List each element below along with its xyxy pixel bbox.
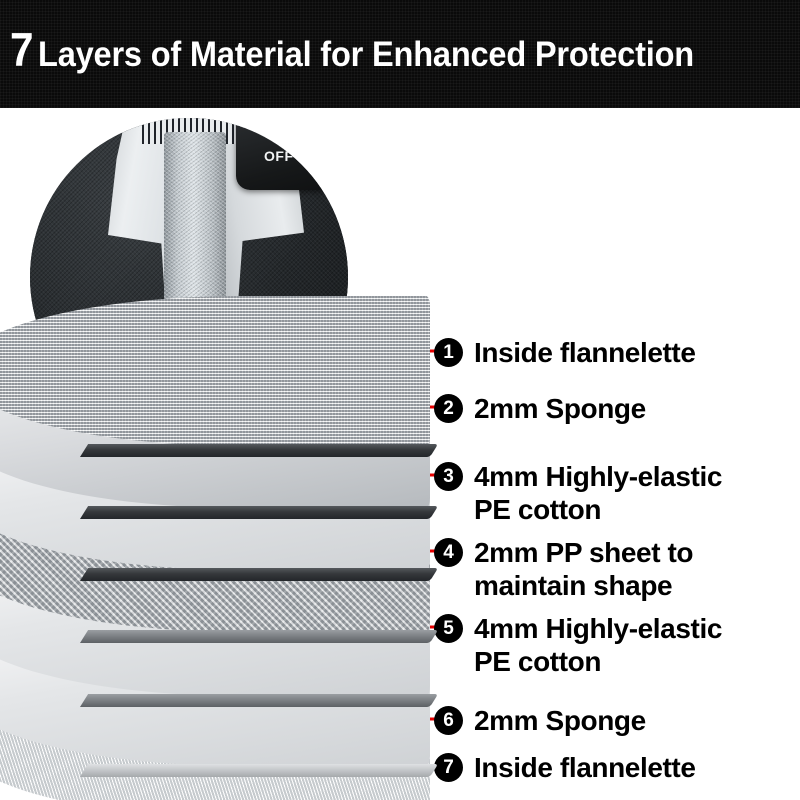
callout-label-7: Inside flannelette: [474, 751, 696, 784]
caliper-off-label: OFF: [264, 148, 294, 164]
page-title: 7 Layers of Material for Enhanced Protec…: [10, 26, 800, 84]
callout-badge-1: 1: [434, 338, 463, 367]
callout-label-4: 2mm PP sheet to maintain shape: [474, 536, 693, 602]
callout-item-7: 7 Inside flannelette: [434, 751, 696, 784]
callout-item-2: 2 2mm Sponge: [434, 392, 646, 425]
material-layer-3-edge: [80, 568, 438, 581]
callout-badge-6: 6: [434, 706, 463, 735]
header-banner: 7 Layers of Material for Enhanced Protec…: [0, 0, 800, 108]
callout-label-3: 4mm Highly-elastic PE cotton: [474, 460, 722, 526]
material-layer-4-edge: [80, 630, 438, 643]
callout-label-2: 2mm Sponge: [474, 392, 646, 425]
caliper-lcd-display: [262, 118, 348, 135]
callout-badge-7: 7: [434, 753, 463, 782]
callout-item-6: 6 2mm Sponge: [434, 704, 646, 737]
header-layer-count: 7: [10, 26, 33, 73]
material-layer-6-edge: [80, 764, 438, 777]
caliper-off-button: [302, 148, 334, 163]
callout-item-3: 3 4mm Highly-elastic PE cotton: [434, 460, 722, 526]
callout-label-6: 2mm Sponge: [474, 704, 646, 737]
material-layer-1-face: [0, 296, 430, 446]
callout-label-5: 4mm Highly-elastic PE cotton: [474, 612, 722, 678]
material-layer-2-edge: [80, 506, 438, 519]
material-layer-1: [0, 296, 430, 446]
callout-item-1: 1 Inside flannelette: [434, 336, 696, 369]
infographic-page: 7 Layers of Material for Enhanced Protec…: [0, 0, 800, 800]
callout-badge-4: 4: [434, 538, 463, 567]
header-title-text: Layers of Material for Enhanced Protecti…: [38, 37, 694, 72]
callout-badge-2: 2: [434, 394, 463, 423]
material-layer-5-edge: [80, 694, 438, 707]
callout-item-5: 5 4mm Highly-elastic PE cotton: [434, 612, 722, 678]
material-layer-1-edge: [80, 444, 438, 457]
callout-label-1: Inside flannelette: [474, 336, 696, 369]
layer-stack-illustration: [0, 296, 460, 800]
callout-badge-3: 3: [434, 462, 463, 491]
callout-item-4: 4 2mm PP sheet to maintain shape: [434, 536, 693, 602]
callout-badge-5: 5: [434, 614, 463, 643]
